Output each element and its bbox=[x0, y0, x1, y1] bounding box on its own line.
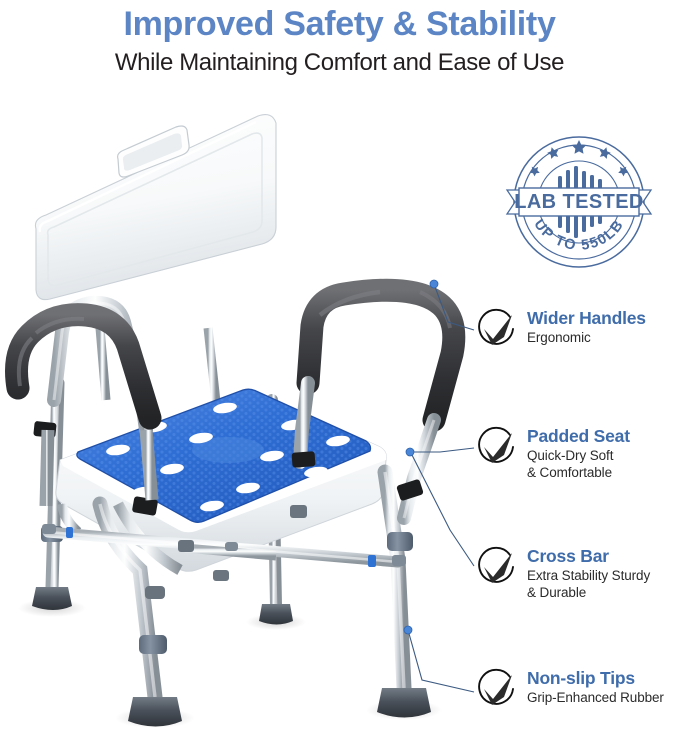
rubber-tip-rear-right bbox=[259, 604, 293, 625]
lab-tested-badge: LAB TESTED UP TO 550LB bbox=[505, 128, 653, 276]
rubber-tip-front-left bbox=[128, 697, 182, 727]
check-circle-icon bbox=[474, 667, 518, 711]
check-circle-icon bbox=[474, 307, 518, 351]
feature-subtitle: Quick-Dry Soft & Comfortable bbox=[527, 446, 630, 481]
feature-title: Non-slip Tips bbox=[527, 668, 664, 688]
check-circle-icon bbox=[474, 545, 518, 589]
feature-text: Cross Bar Extra Stability Sturdy & Durab… bbox=[527, 544, 650, 602]
feature-subtitle-line: Extra Stability Sturdy bbox=[527, 568, 650, 585]
feature-subtitle-line: Ergonomic bbox=[527, 330, 646, 347]
product-image bbox=[0, 100, 480, 738]
rubber-tip-rear-left bbox=[32, 587, 72, 610]
badge-stars bbox=[528, 140, 631, 177]
feature-text: Wider Handles Ergonomic bbox=[527, 306, 646, 347]
feature-wider-handles: Wider Handles Ergonomic bbox=[474, 306, 679, 351]
feature-subtitle-line: & Comfortable bbox=[527, 465, 630, 482]
page-subtitle: While Maintaining Comfort and Ease of Us… bbox=[0, 44, 679, 78]
page-title: Improved Safety & Stability bbox=[0, 0, 679, 44]
header: Improved Safety & Stability While Mainta… bbox=[0, 0, 679, 105]
feature-subtitle-line: Grip-Enhanced Rubber bbox=[527, 690, 664, 707]
feature-subtitle: Ergonomic bbox=[527, 328, 646, 347]
feature-subtitle-line: Quick-Dry Soft bbox=[527, 448, 630, 465]
rubber-tip-front-right bbox=[377, 688, 431, 718]
feature-subtitle: Extra Stability Sturdy & Durable bbox=[527, 566, 650, 601]
backrest bbox=[35, 115, 276, 300]
feature-non-slip-tips: Non-slip Tips Grip-Enhanced Rubber bbox=[474, 666, 679, 711]
feature-text: Padded Seat Quick-Dry Soft & Comfortable bbox=[527, 424, 630, 482]
feature-padded-seat: Padded Seat Quick-Dry Soft & Comfortable bbox=[474, 424, 679, 482]
feature-subtitle-line: & Durable bbox=[527, 585, 650, 602]
feature-title: Cross Bar bbox=[527, 546, 650, 566]
badge-main-text: LAB TESTED bbox=[514, 191, 644, 213]
feature-subtitle: Grip-Enhanced Rubber bbox=[527, 688, 664, 707]
feature-cross-bar: Cross Bar Extra Stability Sturdy & Durab… bbox=[474, 544, 679, 602]
feature-title: Padded Seat bbox=[527, 426, 630, 446]
feature-text: Non-slip Tips Grip-Enhanced Rubber bbox=[527, 666, 664, 707]
feature-title: Wider Handles bbox=[527, 308, 646, 328]
check-circle-icon bbox=[474, 425, 518, 469]
